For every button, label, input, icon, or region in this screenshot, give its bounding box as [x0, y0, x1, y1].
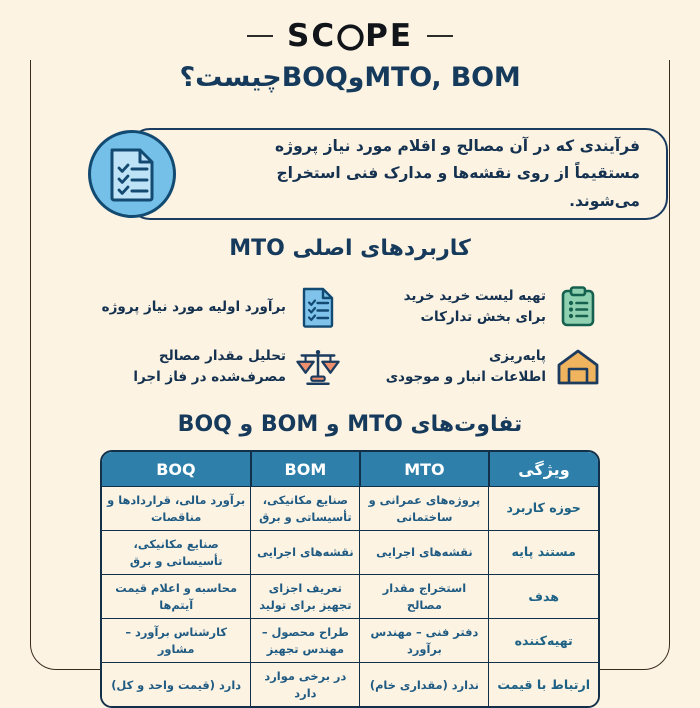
- table-header-row: ویژگی MTO BOM BOQ: [102, 452, 598, 487]
- clipboard-list-icon: [556, 284, 600, 330]
- logo-wordmark: SC PE: [273, 18, 427, 54]
- application-line-2: اطلاعات انبار و موجودی: [386, 369, 546, 385]
- definition-section: فرآیندی که در آن مصالح و اقلام مورد نیاز…: [88, 128, 668, 220]
- cell-feature: تهیه‌کننده: [489, 619, 598, 663]
- application-label: تهیه لیست خرید خرید برای بخش تدارکات: [404, 286, 546, 328]
- document-checklist-icon: [88, 130, 176, 218]
- balance-scales-icon: [296, 344, 340, 390]
- document-checklist-icon: [296, 284, 340, 330]
- application-label: پایه‌ریزی اطلاعات انبار و موجودی: [386, 346, 546, 388]
- cell-bom: طراح محصول – مهندس تجهیز: [251, 619, 360, 663]
- application-item-warehouse-data: پایه‌ریزی اطلاعات انبار و موجودی: [350, 336, 642, 398]
- brand-logo: SC PE: [0, 12, 700, 60]
- page-title-latin2: BOQ: [282, 62, 348, 93]
- application-line-1: برآورد اولیه مورد نیاز پروژه: [102, 299, 286, 315]
- differences-table: ویژگی MTO BOM BOQ حوزه کاربرد پروژه‌های …: [102, 452, 598, 706]
- application-item-consumption-analysis: تحلیل مقدار مصالح مصرف‌شده در فاز اجرا: [58, 336, 350, 398]
- application-item-purchase-list: تهیه لیست خرید خرید برای بخش تدارکات: [350, 278, 642, 336]
- logo-left-dash: [427, 35, 453, 37]
- cell-mto: استخراج مقدار مصالح: [360, 575, 489, 619]
- application-line-2: برای بخش تدارکات: [420, 309, 546, 325]
- column-header-feature: ویژگی: [489, 452, 598, 487]
- application-line-2: مصرف‌شده در فاز اجرا: [133, 369, 286, 385]
- cell-mto: نقشه‌های اجرایی: [360, 531, 489, 575]
- infographic-page: SC PE MTO, BOMوBOQچیست؟ فرآیندی که در آن…: [0, 0, 700, 700]
- applications-heading: کاربردهای اصلی MTO: [0, 236, 700, 261]
- page-title: MTO, BOMوBOQچیست؟: [0, 62, 700, 93]
- cell-feature: هدف: [489, 575, 598, 619]
- page-title-persian: چیست؟: [180, 62, 282, 93]
- application-line-1: تحلیل مقدار مصالح: [159, 348, 286, 364]
- application-line-1: تهیه لیست خرید خرید: [404, 288, 546, 304]
- cell-bom: نقشه‌های اجرایی: [251, 531, 360, 575]
- table-row: تهیه‌کننده دفتر فنی – مهندس برآورد طراح …: [102, 619, 598, 663]
- page-title-conjunction: و: [348, 62, 365, 93]
- page-title-latin: MTO, BOM: [364, 62, 520, 93]
- definition-line-1: فرآیندی که در آن مصالح و اقلام مورد نیاز…: [220, 133, 640, 160]
- warehouse-icon: [556, 344, 600, 390]
- column-header-boq: BOQ: [102, 452, 251, 487]
- cell-feature: حوزه کاربرد: [489, 487, 598, 531]
- cell-feature: مستند پایه: [489, 531, 598, 575]
- table-body: حوزه کاربرد پروژه‌های عمرانی و ساختمانی …: [102, 487, 598, 707]
- table-row: حوزه کاربرد پروژه‌های عمرانی و ساختمانی …: [102, 487, 598, 531]
- cell-boq: برآورد مالی، قراردادها و مناقصات: [102, 487, 251, 531]
- table-header: ویژگی MTO BOM BOQ: [102, 452, 598, 487]
- column-header-bom: BOM: [251, 452, 360, 487]
- application-label: برآورد اولیه مورد نیاز پروژه: [102, 297, 286, 318]
- cell-boq: صنایع مکانیکی، تأسیساتی و برق: [102, 531, 251, 575]
- application-line-1: پایه‌ریزی: [489, 348, 546, 364]
- cell-bom: صنایع مکانیکی، تأسیساتی و برق: [251, 487, 360, 531]
- application-item-initial-estimate: برآورد اولیه مورد نیاز پروژه: [58, 278, 350, 336]
- cell-boq: کارشناس برآورد – مشاور: [102, 619, 251, 663]
- logo-o-icon: [337, 23, 364, 50]
- definition-box: فرآیندی که در آن مصالح و اقلام مورد نیاز…: [128, 128, 668, 220]
- table-row: مستند پایه نقشه‌های اجرایی نقشه‌های اجرا…: [102, 531, 598, 575]
- cell-bom: تعریف اجزای تجهیز برای تولید: [251, 575, 360, 619]
- cell-mto: پروژه‌های عمرانی و ساختمانی: [360, 487, 489, 531]
- applications-grid: تهیه لیست خرید خرید برای بخش تدارکات: [58, 278, 642, 398]
- cell-boq: محاسبه و اعلام قیمت آیتم‌ها: [102, 575, 251, 619]
- logo-right-dash: [247, 35, 273, 37]
- differences-table-wrapper: ویژگی MTO BOM BOQ حوزه کاربرد پروژه‌های …: [100, 450, 600, 708]
- column-header-mto: MTO: [360, 452, 489, 487]
- application-label: تحلیل مقدار مصالح مصرف‌شده در فاز اجرا: [133, 346, 286, 388]
- logo-text-before: SC: [287, 18, 336, 54]
- table-row: هدف استخراج مقدار مصالح تعریف اجزای تجهی…: [102, 575, 598, 619]
- differences-heading: تفاوت‌های MTO و BOM و BOQ: [0, 412, 700, 437]
- definition-text: فرآیندی که در آن مصالح و اقلام مورد نیاز…: [130, 133, 646, 214]
- logo-text-after: PE: [365, 18, 413, 54]
- cell-mto: دفتر فنی – مهندس برآورد: [360, 619, 489, 663]
- definition-line-2: مستقیماً از روی نقشه‌ها و مدارک فنی استخ…: [220, 160, 640, 214]
